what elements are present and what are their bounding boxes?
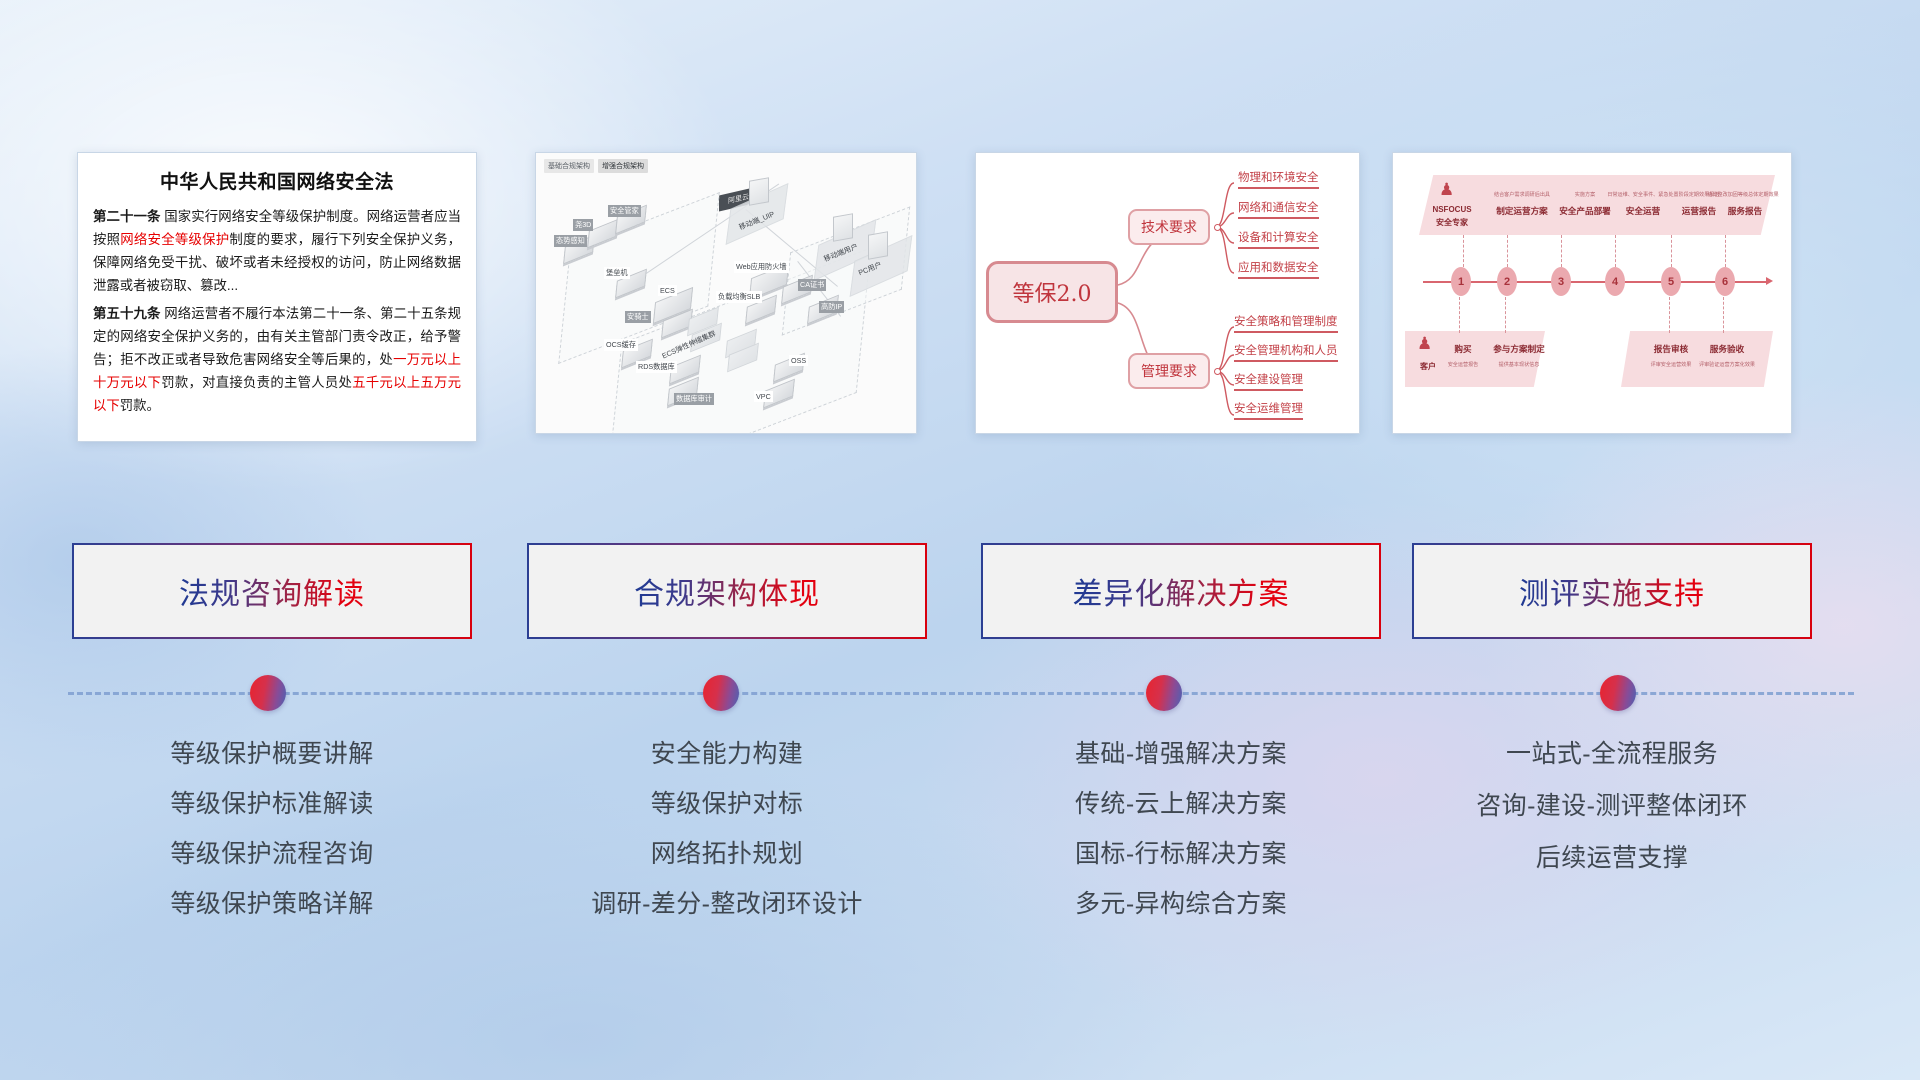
nsfocus-bottom-title-2: 参与方案制定 <box>1479 343 1559 355</box>
nsfocus-bottom-title-4: 服务验收 <box>1697 343 1757 355</box>
nsfocus-step-number-6: 6 <box>1715 267 1735 296</box>
list-item: 等级保护对标 <box>529 792 925 817</box>
list-item: 基础-增强解决方案 <box>983 742 1379 767</box>
section-header-compliance-architecture[interactable]: 合规架构体现 <box>529 545 925 637</box>
list-item: 等级保护策略详解 <box>74 892 470 917</box>
list-item: 一站式-全流程服务 <box>1414 742 1810 767</box>
architecture-label-db-audit: 数据库审计 <box>674 393 714 405</box>
law-article-21-highlight: 网络安全等级保护 <box>120 232 229 247</box>
architecture-label-gaofang-ip: 高防IP <box>819 301 844 313</box>
section-header-assessment-support[interactable]: 测评实施支持 <box>1414 545 1810 637</box>
list-item: 咨询-建设-测评整体闭环 <box>1414 794 1810 819</box>
nsfocus-step-number-3: 3 <box>1551 267 1571 296</box>
timeline-dashed-line <box>68 692 1854 695</box>
preview-card-row: 中华人民共和国网络安全法 第二十一条 国家实行网络安全等级保护制度。网络运营者应… <box>0 152 1920 452</box>
timeline-marker-3[interactable] <box>1146 675 1182 711</box>
law-article-21-label: 第二十一条 <box>93 209 160 224</box>
timeline-track <box>0 660 1920 720</box>
law-title: 中华人民共和国网络安全法 <box>93 167 461 194</box>
nsfocus-step-number-1: 1 <box>1451 267 1471 296</box>
list-item: 等级保护概要讲解 <box>74 742 470 767</box>
list-item: 传统-云上解决方案 <box>983 792 1379 817</box>
law-article-21: 第二十一条 国家实行网络安全等级保护制度。网络运营者应当按照网络安全等级保护制度… <box>93 205 461 297</box>
nsfocus-leader-4 <box>1615 235 1616 267</box>
nsfocus-expert-role-line2: 安全专家 <box>1421 217 1483 228</box>
nsfocus-step-number-4: 4 <box>1605 267 1625 296</box>
section-header-label-3: 差异化解决方案 <box>1073 569 1290 613</box>
mindmap-diagram: 等保2.0 技术要求 物理和环境安全 网络和通信安全 设备和计算安全 应用和数据… <box>976 153 1359 433</box>
card-cybersecurity-law[interactable]: 中华人民共和国网络安全法 第二十一条 国家实行网络安全等级保护制度。网络运营者应… <box>77 152 477 442</box>
architecture-label-ocs: OCS缓存 <box>604 339 638 351</box>
mindmap-branch-technical: 技术要求 <box>1128 209 1210 245</box>
architecture-label-3d: 尧3D <box>573 219 593 231</box>
nsfocus-bottom-sub-4: 评审验证运营方案化效果 <box>1691 361 1763 368</box>
mindmap-leaf-mgmt-2: 安全管理机构和人员 <box>1234 342 1338 362</box>
detail-list-regulation-consulting: 等级保护概要讲解 等级保护标准解读 等级保护流程咨询 等级保护策略详解 <box>74 742 470 942</box>
mindmap-leaf-mgmt-4: 安全运维管理 <box>1234 400 1303 420</box>
list-item: 等级保护标准解读 <box>74 792 470 817</box>
nsfocus-axis-arrow-icon <box>1766 277 1773 285</box>
architecture-label-bastion: 堡垒机 <box>604 267 630 279</box>
architecture-label-rds: RDS数据库 <box>636 361 677 373</box>
card-compliance-architecture[interactable]: 基础合规架构 增强合规架构 阿里云 <box>535 152 917 434</box>
mindmap-leaf-tech-4: 应用和数据安全 <box>1238 259 1319 279</box>
nsfocus-leader-6 <box>1725 235 1726 267</box>
card-mbps-mindmap[interactable]: 等保2.0 技术要求 物理和环境安全 网络和通信安全 设备和计算安全 应用和数据… <box>975 152 1360 434</box>
detail-list-assessment-support: 一站式-全流程服务 咨询-建设-测评整体闭环 后续运营支撑 <box>1414 742 1810 898</box>
law-document: 中华人民共和国网络安全法 第二十一条 国家实行网络安全等级保护制度。网络运营者应… <box>78 153 476 430</box>
architecture-label-vpc: VPC <box>754 391 773 402</box>
mindmap-leaf-tech-2: 网络和通信安全 <box>1238 199 1319 219</box>
architecture-label-security-butler: 安全管家 <box>608 205 641 217</box>
nsfocus-timeline-diagram: ♟ NSFOCUS 安全专家 ♟ 客户 结合客户需求调研后出具 制定运营方案 实… <box>1393 153 1791 433</box>
mindmap-leaf-mgmt-1: 安全策略和管理制度 <box>1234 313 1338 333</box>
nsfocus-bottom-sub-2: 提供基本现状信息 <box>1481 361 1557 368</box>
section-header-row: 法规咨询解读 合规架构体现 差异化解决方案 测评实施支持 <box>0 545 1920 645</box>
mindmap-leaf-tech-1: 物理和环境安全 <box>1238 169 1319 189</box>
architecture-label-situational-awareness: 态势感知 <box>554 235 587 247</box>
nsfocus-band-customer-right <box>1621 331 1773 387</box>
architecture-label-waf: Web应用防火墙 <box>734 261 789 273</box>
mindmap-collapse-dot-technical[interactable] <box>1214 224 1221 231</box>
law-article-59-mid: 罚款，对直接负责的主管人员处 <box>161 375 352 390</box>
law-article-59-end: 罚款。 <box>120 398 160 413</box>
mindmap-branch-management: 管理要求 <box>1128 353 1210 389</box>
nsfocus-leader-2 <box>1507 235 1508 267</box>
architecture-label-ecs: ECS <box>658 285 677 296</box>
card-nsfocus-timeline[interactable]: ♟ NSFOCUS 安全专家 ♟ 客户 结合客户需求调研后出具 制定运营方案 实… <box>1392 152 1792 434</box>
timeline-marker-2[interactable] <box>703 675 739 711</box>
architecture-label-oss: OSS <box>789 355 808 366</box>
slide-root: 中华人民共和国网络安全法 第二十一条 国家实行网络安全等级保护制度。网络运营者应… <box>0 0 1920 1080</box>
detail-list-compliance-architecture: 安全能力构建 等级保护对标 网络拓扑规划 调研-差分-整改闭环设计 <box>529 742 925 942</box>
section-header-label-1: 法规咨询解读 <box>179 569 365 613</box>
list-item: 国标-行标解决方案 <box>983 842 1379 867</box>
nsfocus-step-number-5: 5 <box>1661 267 1681 296</box>
architecture-screen-user-mobile <box>833 213 853 242</box>
nsfocus-bottom-title-3: 报告审核 <box>1641 343 1701 355</box>
nsfocus-expert-role-line1: NSFOCUS <box>1421 205 1483 214</box>
timeline-marker-4[interactable] <box>1600 675 1636 711</box>
list-item: 多元-异构综合方案 <box>983 892 1379 917</box>
list-item: 网络拓扑规划 <box>529 842 925 867</box>
nsfocus-leader-9 <box>1669 297 1670 333</box>
architecture-tab-enhanced[interactable]: 增强合规架构 <box>598 159 648 173</box>
architecture-tab-group: 基础合规架构 增强合规架构 <box>544 159 648 173</box>
architecture-tab-basic[interactable]: 基础合规架构 <box>544 159 594 173</box>
nsfocus-leader-5 <box>1671 235 1672 267</box>
nsfocus-top-title-5: 服务报告 <box>1705 205 1785 217</box>
mindmap-leaf-tech-3: 设备和计算安全 <box>1238 229 1319 249</box>
architecture-label-slb: 负载均衡SLB <box>716 291 762 303</box>
architecture-label-ca: CA证书 <box>798 279 826 291</box>
mindmap-collapse-dot-management[interactable] <box>1214 368 1221 375</box>
mindmap-leaf-mgmt-3: 安全建设管理 <box>1234 371 1303 391</box>
list-item: 后续运营支撑 <box>1414 846 1810 871</box>
architecture-screen-user-pc <box>868 231 888 260</box>
nsfocus-leader-7 <box>1459 297 1460 333</box>
nsfocus-leader-3 <box>1561 235 1562 267</box>
detail-list-row: 等级保护概要讲解 等级保护标准解读 等级保护流程咨询 等级保护策略详解 安全能力… <box>0 742 1920 982</box>
section-header-differentiated-solution[interactable]: 差异化解决方案 <box>983 545 1379 637</box>
timeline-marker-1[interactable] <box>250 675 286 711</box>
nsfocus-step-number-2: 2 <box>1497 267 1517 296</box>
section-header-label-4: 测评实施支持 <box>1519 569 1705 613</box>
list-item: 等级保护流程咨询 <box>74 842 470 867</box>
architecture-label-anqishi: 安骑士 <box>625 311 651 323</box>
nsfocus-top-sub-5: 给出整改加固等级总体定期效果 <box>1699 191 1787 198</box>
law-article-59-label: 第五十九条 <box>93 306 160 321</box>
list-item: 安全能力构建 <box>529 742 925 767</box>
law-article-59: 第五十九条 网络运营者不履行本法第二十一条、第二十五条规定的网络安全保护义务的，… <box>93 302 461 417</box>
expert-avatar-icon: ♟ <box>1439 181 1454 198</box>
customer-avatar-icon: ♟ <box>1417 335 1432 352</box>
mindmap-root-node: 等保2.0 <box>986 261 1118 323</box>
nsfocus-leader-8 <box>1505 297 1506 333</box>
architecture-screen-mobile <box>749 177 769 206</box>
section-header-label-2: 合规架构体现 <box>634 569 820 613</box>
nsfocus-leader-10 <box>1723 297 1724 333</box>
detail-list-differentiated-solution: 基础-增强解决方案 传统-云上解决方案 国标-行标解决方案 多元-异构综合方案 <box>983 742 1379 942</box>
list-item: 调研-差分-整改闭环设计 <box>529 892 925 917</box>
architecture-diagram: 基础合规架构 增强合规架构 阿里云 <box>536 153 916 433</box>
nsfocus-leader-1 <box>1463 235 1464 267</box>
section-header-regulation-consulting[interactable]: 法规咨询解读 <box>74 545 470 637</box>
